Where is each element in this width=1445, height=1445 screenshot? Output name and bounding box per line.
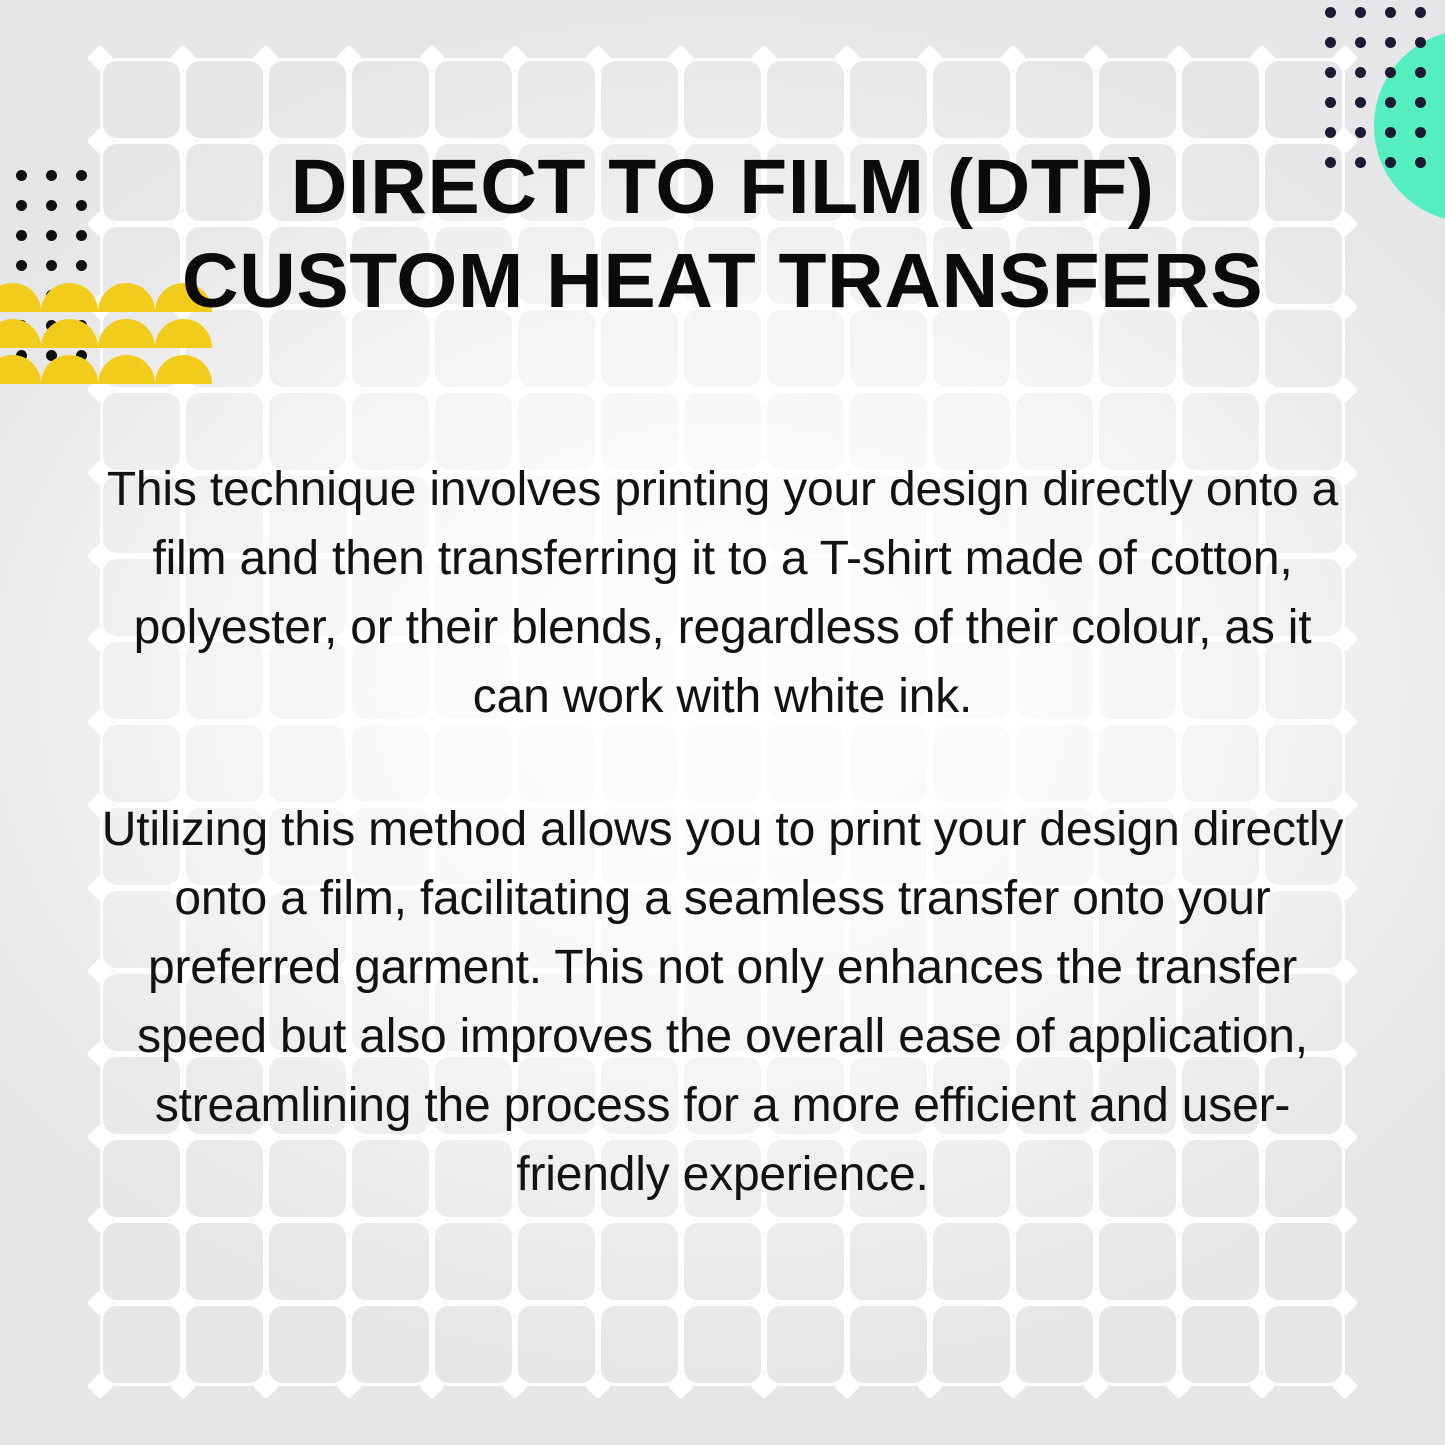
body-paragraph-2: Utilizing this method allows you to prin… — [85, 795, 1360, 1209]
paragraph-2-line-5: streamlining the process for a more effi… — [85, 1071, 1360, 1140]
slide-canvas: DIRECT TO FILM (DTF) CUSTOM HEAT TRANSFE… — [0, 0, 1445, 1445]
paragraph-1-line-4: can work with white ink. — [95, 662, 1350, 731]
page-title-line-2: CUSTOM HEAT TRANSFERS — [82, 234, 1362, 328]
paragraph-2-line-2: onto a film, facilitating a seamless tra… — [85, 864, 1360, 933]
content-layer: DIRECT TO FILM (DTF) CUSTOM HEAT TRANSFE… — [0, 0, 1445, 1445]
page-title-line-1: DIRECT TO FILM (DTF) — [82, 140, 1362, 234]
paragraph-2-line-1: Utilizing this method allows you to prin… — [85, 795, 1360, 864]
paragraph-2-line-6: friendly experience. — [85, 1140, 1360, 1209]
paragraph-2-line-4: speed but also improves the overall ease… — [85, 1002, 1360, 1071]
paragraph-2-line-3: preferred garment. This not only enhance… — [85, 933, 1360, 1002]
paragraph-1-line-3: polyester, or their blends, regardless o… — [95, 593, 1350, 662]
paragraph-1-line-1: This technique involves printing your de… — [95, 455, 1350, 524]
body-paragraph-1: This technique involves printing your de… — [95, 455, 1350, 731]
paragraph-1-line-2: film and then transferring it to a T-shi… — [95, 524, 1350, 593]
page-title: DIRECT TO FILM (DTF) CUSTOM HEAT TRANSFE… — [82, 140, 1362, 328]
